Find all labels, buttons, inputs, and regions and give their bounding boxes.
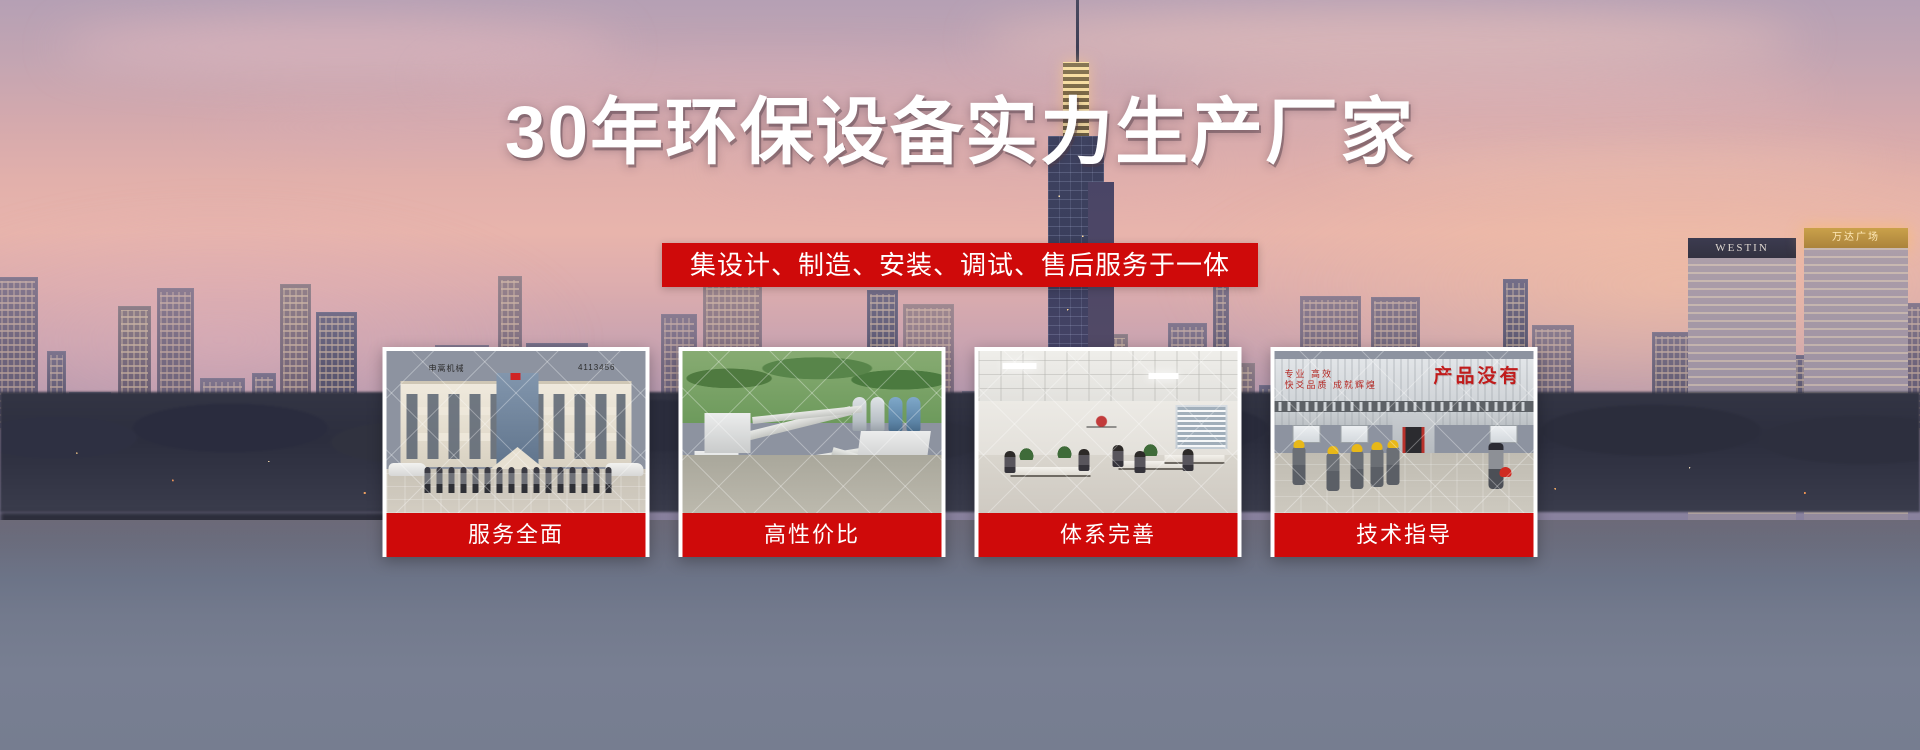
- card-caption: 技术指导: [1275, 513, 1534, 557]
- building-phone-text: 4113456: [578, 363, 616, 372]
- factory-slogan-small: 专业 高效快爻品质 成就辉煌: [1285, 369, 1378, 391]
- card-photo: 申蒿机械 4113456: [387, 351, 646, 513]
- factory-slogan-large: 产品没有: [1433, 361, 1521, 388]
- subtitle-badge: 集设计、制造、安装、调试、售后服务于一体: [662, 243, 1258, 287]
- hero-banner: WESTIN 万达广场 30年环保设备实力生产厂家 集设计、制造、安装、调试、售…: [0, 0, 1920, 750]
- feature-card[interactable]: 产品没有 专业 高效快爻品质 成就辉煌: [1271, 347, 1538, 557]
- feature-card[interactable]: 申蒿机械 4113456 服务全面: [383, 347, 650, 557]
- card-caption: 服务全面: [387, 513, 646, 557]
- card-photo: [683, 351, 942, 513]
- building-sign-text: 申蒿机械: [429, 363, 465, 374]
- feature-card[interactable]: 高性价比: [679, 347, 946, 557]
- card-caption: 高性价比: [683, 513, 942, 557]
- feature-card-row: 申蒿机械 4113456 服务全面: [383, 347, 1538, 557]
- feature-card[interactable]: 体系完善: [975, 347, 1242, 557]
- card-caption: 体系完善: [979, 513, 1238, 557]
- card-photo: [979, 351, 1238, 513]
- card-photo: 产品没有 专业 高效快爻品质 成就辉煌: [1275, 351, 1534, 513]
- page-title: 30年环保设备实力生产厂家: [0, 96, 1920, 169]
